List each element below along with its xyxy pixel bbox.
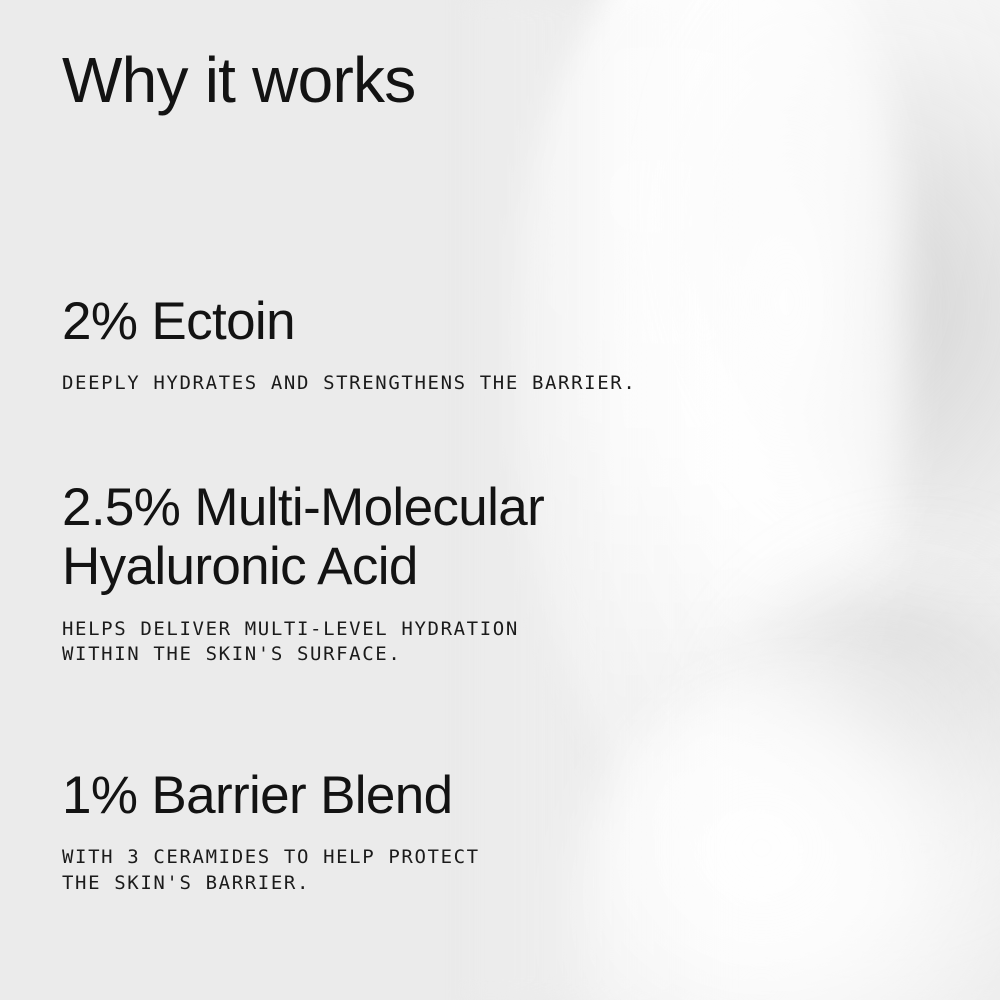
page-title: Why it works — [62, 47, 415, 115]
ingredient-name-hyaluronic-acid: 2.5% Multi-Molecular Hyaluronic Acid — [62, 478, 544, 597]
ingredient-name-barrier-blend: 1% Barrier Blend — [62, 766, 480, 825]
ingredient-description-hyaluronic-acid: HELPS DELIVER MULTI-LEVEL HYDRATION WITH… — [62, 617, 544, 668]
ingredient-description-barrier-blend: WITH 3 CERAMIDES TO HELP PROTECT THE SKI… — [62, 845, 480, 896]
ingredient-block-ectoin: 2% Ectoin DEEPLY HYDRATES AND STRENGTHEN… — [62, 292, 636, 397]
ingredient-description-ectoin: DEEPLY HYDRATES AND STRENGTHENS THE BARR… — [62, 371, 636, 396]
ingredient-name-ectoin: 2% Ectoin — [62, 292, 636, 351]
content-layer: Why it works 2% Ectoin DEEPLY HYDRATES A… — [0, 0, 1000, 1000]
product-benefits-panel: Why it works 2% Ectoin DEEPLY HYDRATES A… — [0, 0, 1000, 1000]
ingredient-block-hyaluronic-acid: 2.5% Multi-Molecular Hyaluronic Acid HEL… — [62, 478, 544, 668]
ingredient-block-barrier-blend: 1% Barrier Blend WITH 3 CERAMIDES TO HEL… — [62, 766, 480, 896]
